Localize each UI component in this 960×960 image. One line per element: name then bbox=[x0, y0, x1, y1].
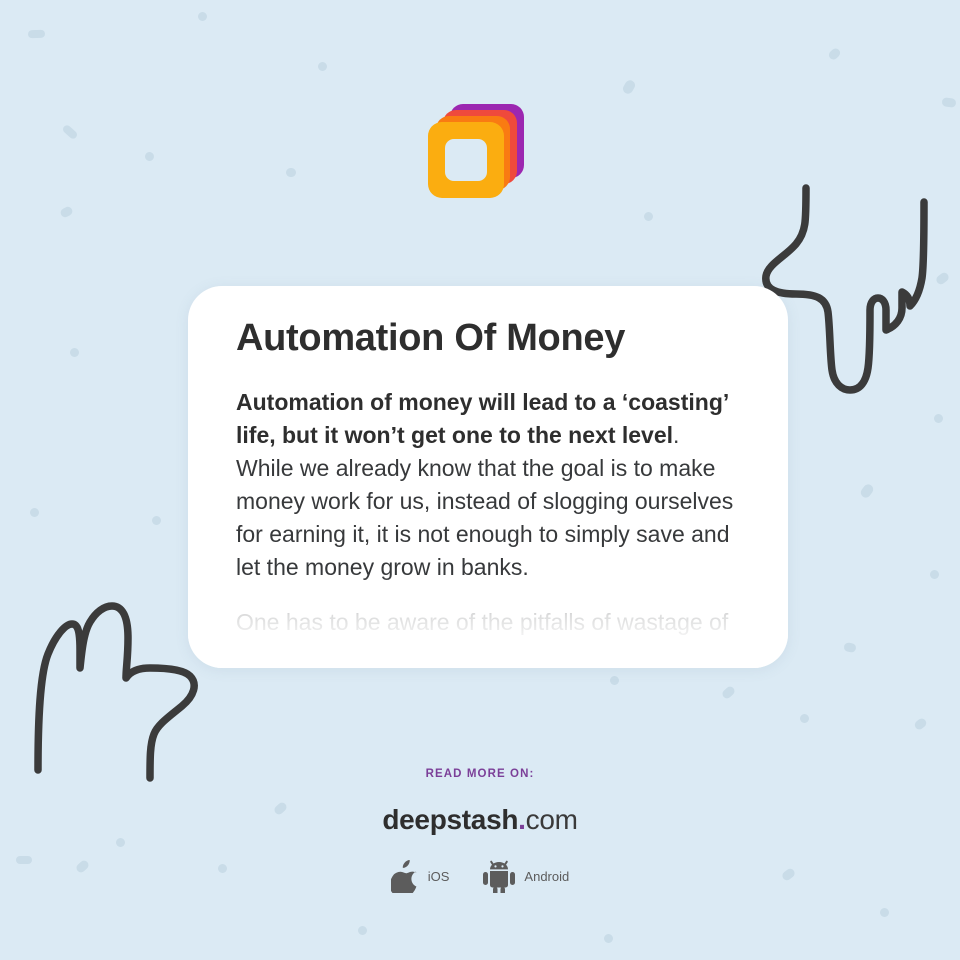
confetti-speck bbox=[941, 97, 956, 108]
brand-tld: com bbox=[526, 804, 578, 835]
confetti-speck bbox=[721, 685, 737, 700]
footer: READ MORE ON: deepstash.com iOS bbox=[0, 768, 960, 893]
confetti-speck bbox=[644, 212, 653, 221]
confetti-speck bbox=[70, 348, 79, 357]
confetti-speck bbox=[621, 78, 637, 95]
idea-body-lead: Automation of money will lead to a ‘coas… bbox=[236, 389, 728, 448]
android-store-link[interactable]: Android bbox=[483, 860, 569, 893]
read-more-label: READ MORE ON: bbox=[0, 768, 960, 780]
app-store-links: iOS Android bbox=[0, 860, 960, 893]
confetti-speck bbox=[800, 714, 809, 723]
confetti-speck bbox=[935, 271, 951, 286]
ios-store-link[interactable]: iOS bbox=[391, 860, 450, 893]
deepstash-logo bbox=[428, 104, 524, 200]
confetti-speck bbox=[152, 516, 161, 525]
idea-card: Automation Of Money Automation of money … bbox=[188, 286, 788, 668]
logo-center-cutout bbox=[445, 139, 487, 181]
idea-body-text: Automation of money will lead to a ‘coas… bbox=[236, 386, 740, 584]
idea-body-faded: One has to be aware of the pitfalls of w… bbox=[236, 606, 740, 639]
page-title: Automation Of Money bbox=[236, 318, 740, 360]
brand-wordmark: deepstash.com bbox=[0, 804, 960, 836]
confetti-speck bbox=[934, 414, 943, 423]
confetti-speck bbox=[930, 570, 939, 579]
idea-card-content: Automation Of Money Automation of money … bbox=[188, 286, 788, 639]
poster-canvas: Automation Of Money Automation of money … bbox=[0, 0, 960, 960]
ios-store-label: iOS bbox=[428, 869, 450, 884]
confetti-speck bbox=[28, 30, 45, 39]
confetti-speck bbox=[30, 508, 39, 517]
confetti-speck bbox=[198, 12, 207, 21]
confetti-speck bbox=[59, 205, 74, 219]
brand-name: deepstash bbox=[382, 804, 518, 835]
apple-icon bbox=[391, 860, 419, 893]
confetti-speck bbox=[604, 934, 613, 943]
confetti-speck bbox=[610, 676, 619, 685]
android-icon bbox=[483, 860, 515, 893]
confetti-speck bbox=[318, 62, 327, 71]
confetti-speck bbox=[286, 168, 296, 177]
confetti-speck bbox=[144, 151, 155, 162]
android-store-label: Android bbox=[524, 869, 569, 884]
confetti-speck bbox=[880, 908, 889, 917]
confetti-speck bbox=[827, 47, 842, 62]
confetti-speck bbox=[61, 124, 78, 141]
confetti-speck bbox=[843, 642, 856, 653]
confetti-speck bbox=[358, 926, 367, 935]
confetti-speck bbox=[859, 482, 875, 499]
confetti-speck bbox=[913, 717, 928, 731]
brand-dot: . bbox=[518, 804, 525, 835]
